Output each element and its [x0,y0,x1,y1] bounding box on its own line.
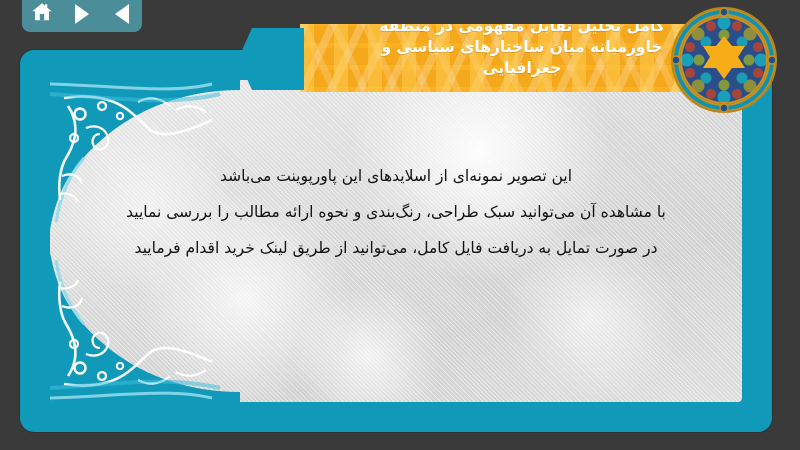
content-frame: این تصویر نمونه‌ای از اسلایدهای این پاور… [20,50,772,432]
slide-navigation-bar[interactable] [22,0,142,32]
content-frame-inner: این تصویر نمونه‌ای از اسلایدهای این پاور… [50,80,742,402]
title-line-3: جغرافیایی [483,58,562,79]
title-line-2: خاورمیانه میان ساختارهای سیاسی و [381,37,662,58]
banner-connector-tab [238,28,304,90]
title-line-1: کامل تحلیل تقابل مفهومی در منطقه [379,24,665,37]
home-button[interactable] [28,1,56,27]
body-line-1: این تصویر نمونه‌ای از اسلایدهای این پاور… [90,158,702,194]
home-icon [31,1,53,27]
previous-button[interactable] [108,1,136,27]
floral-corner-ornament-bottom-left [50,252,240,402]
body-line-3: در صورت تمایل به دریافت فایل کامل، می‌تو… [90,230,702,266]
slide-canvas: این تصویر نمونه‌ای از اسلایدهای این پاور… [0,0,800,450]
triangle-left-icon [115,4,129,24]
triangle-right-icon [75,4,89,24]
persian-medallion-icon [670,6,778,114]
next-button[interactable] [68,1,96,27]
slide-body-text: این تصویر نمونه‌ای از اسلایدهای این پاور… [90,158,702,266]
body-line-2: با مشاهده آن می‌توانید سبک طراحی، رنگ‌بن… [90,194,702,230]
